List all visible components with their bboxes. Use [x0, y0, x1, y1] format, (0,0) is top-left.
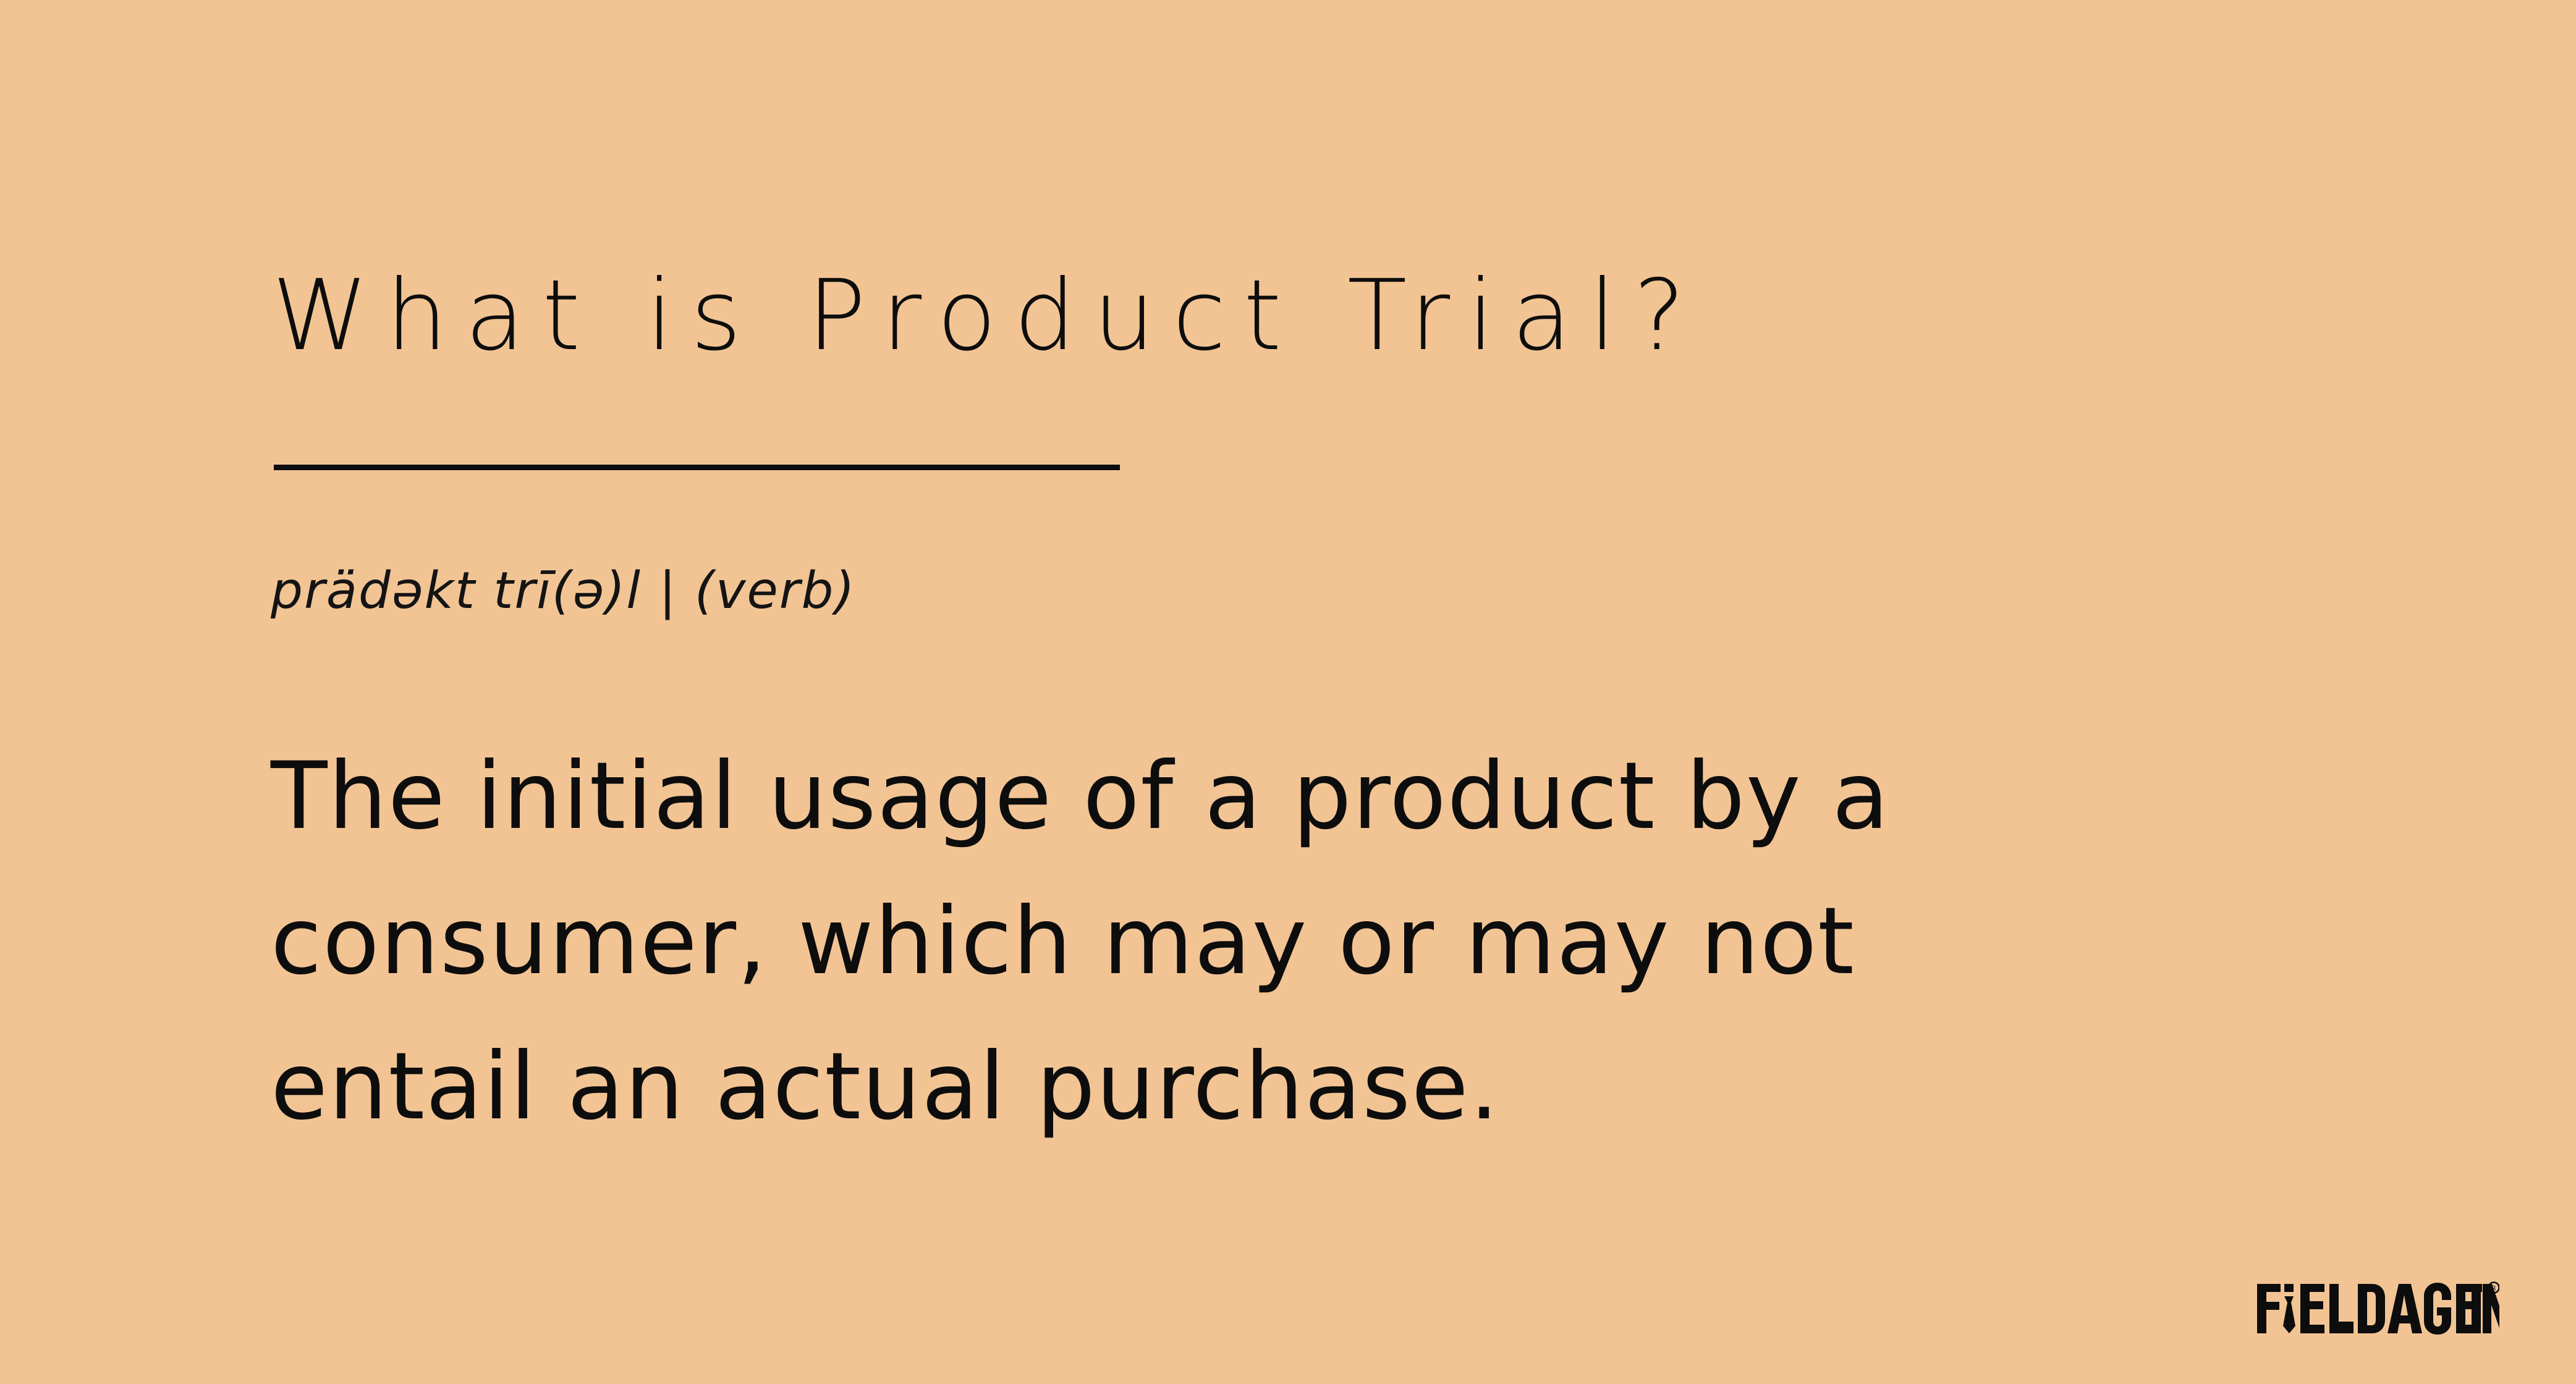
page-title: What is Product Trial?	[272, 267, 1703, 365]
definition-line: The initial usage of a product by a	[271, 724, 2125, 869]
slide-canvas: What is Product Trial? prädəkt trī(ə)l |…	[0, 0, 2576, 1384]
pronunciation-text: prädəkt trī(ə)l | (verb)	[271, 566, 856, 617]
definition-text: The initial usage of a product by a cons…	[271, 724, 2125, 1160]
definition-line: entail an actual purchase.	[271, 1015, 2125, 1160]
title-divider-rule	[274, 465, 1120, 470]
svg-text:R: R	[2491, 1285, 2496, 1293]
field-agent-logo: R	[2257, 1279, 2499, 1338]
definition-line: consumer, which may or may not	[271, 869, 2125, 1015]
